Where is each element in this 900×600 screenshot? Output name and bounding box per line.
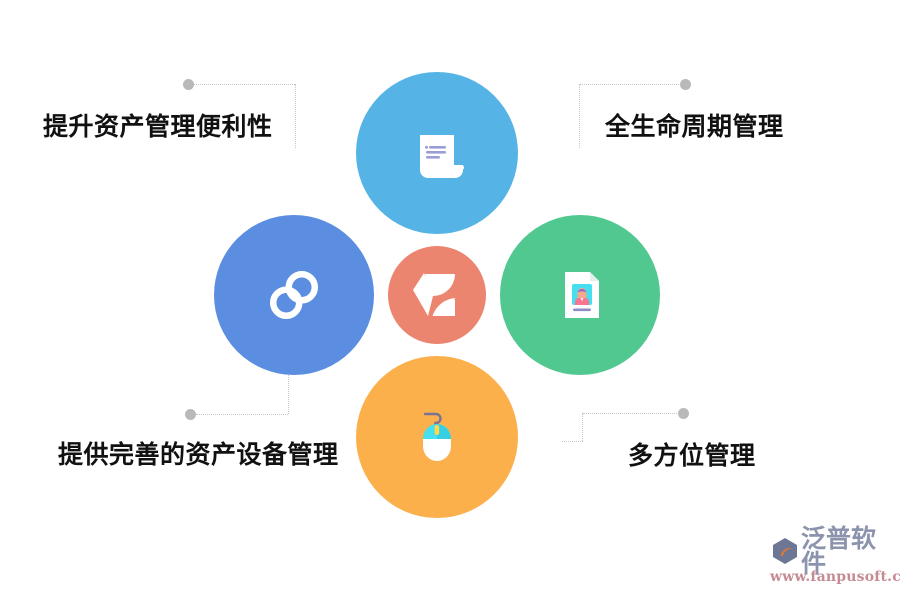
label-top-right: 全生命周期管理 (605, 114, 784, 139)
connector-dot (678, 408, 689, 419)
connector-dot (183, 79, 194, 90)
label-top-left: 提升资产管理便利性 (43, 114, 273, 139)
node-circle-left[interactable] (214, 215, 374, 375)
leaf-emblem-icon (411, 268, 463, 322)
fanpu-mark-icon (770, 536, 800, 566)
brand-logo: 泛普软件 www.fanpusoft.com (770, 534, 895, 590)
brand-url: www.fanpusoft.com (770, 569, 895, 585)
connector-line-horizontal (196, 414, 288, 415)
connector-line-vertical (295, 84, 296, 148)
connector-line-horizontal-tail (562, 441, 583, 442)
connector-line-horizontal (194, 84, 295, 85)
label-bottom-right: 多方位管理 (628, 443, 756, 468)
node-circle-right[interactable] (500, 215, 660, 375)
connector-dot (680, 79, 691, 90)
infographic-canvas: 提升资产管理便利性 全生命周期管理 提供完善的资产设备管理 多方位管理 泛普软件… (0, 0, 900, 600)
node-circle-center[interactable] (388, 246, 486, 344)
scroll-document-icon (401, 117, 473, 189)
id-card-document-icon (544, 259, 616, 331)
connector-line-horizontal (583, 413, 679, 414)
node-circle-top[interactable] (356, 72, 518, 234)
connector-line-horizontal (580, 84, 681, 85)
label-bottom-left: 提供完善的资产设备管理 (58, 442, 339, 467)
connector-line-vertical (579, 84, 580, 148)
node-circle-bottom[interactable] (356, 356, 518, 518)
chain-link-icon (258, 259, 330, 331)
computer-mouse-icon (401, 401, 473, 473)
brand-row: 泛普软件 (770, 534, 895, 568)
connector-line-vertical (582, 413, 583, 441)
connector-dot (185, 409, 196, 420)
